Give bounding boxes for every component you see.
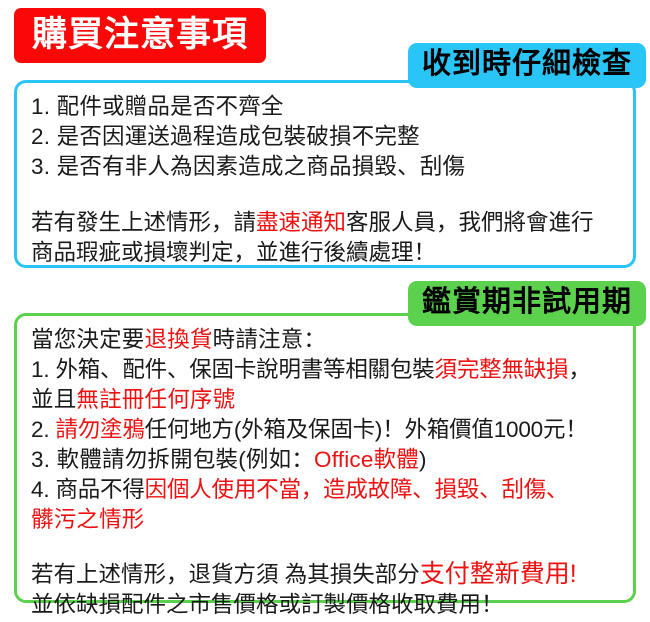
return-intro-line: 當您決定要退換貨時請注意： [31,325,619,355]
purchase-note-line-1-suffix: 客服人員，我們將會進行 [346,210,594,235]
return-item-3: 3. 軟體請勿拆開包裝(例如：Office軟體) [31,445,619,475]
return-item-1-text: 外箱、配件、保固卡說明書等相關包裝 [55,357,434,382]
return-item-1-number: 1. [31,357,49,382]
checklist-item-1-number: 1. [31,94,50,119]
purchase-note-line-1-prefix: 若有發生上述情形，請 [31,210,256,235]
return-policy-panel: 當您決定要退換貨時請注意： 1. 外箱、配件、保固卡說明書等相關包裝須完整無缺損… [14,313,636,603]
return-footer-line-1-prefix: 若有上述情形，退貨方須 為其損失部分 [31,562,420,587]
checklist-item-2: 2. 是否因運送過程造成包裝破損不完整 [31,122,619,152]
return-item-1-suffix: ， [568,357,590,382]
return-item-3-highlight: Office軟體 [314,447,419,472]
purchase-notice-title-badge: 購買注意事項 [14,8,266,63]
return-footer-line-1-highlight: 支付整新費用! [420,560,577,588]
return-item-2-number: 2. [31,417,49,442]
inspect-on-arrival-badge: 收到時仔細檢查 [408,43,646,88]
return-intro-prefix: 當您決定要 [31,327,145,352]
return-policy-spacer [31,535,619,559]
return-item-1-continued: 並且無註冊任何序號 [31,385,619,415]
checklist-item-3-text: 是否有非人為因素造成之商品損毀、刮傷 [57,154,466,179]
return-footer-line-1: 若有上述情形，退貨方須 為其損失部分支付整新費用! [31,559,619,590]
return-policy-body: 當您決定要退換貨時請注意： 1. 外箱、配件、保固卡說明書等相關包裝須完整無缺損… [17,316,633,620]
return-footer-line-2: 並依缺損配件之市售價格或訂製價格收取費用！ [31,590,619,620]
return-item-2: 2. 請勿塗鴉任何地方(外箱及保固卡)！外箱價值1000元！ [31,415,619,445]
return-item-4-text: 商品不得 [55,477,144,502]
checklist-item-2-text: 是否因運送過程造成包裝破損不完整 [57,124,420,149]
return-item-3-text: 軟體請勿拆開包裝(例如： [57,447,314,472]
return-item-2-highlight: 請勿塗鴉 [55,417,144,442]
purchase-note-line-1-highlight: 盡速通知 [256,210,346,235]
return-item-3-number: 3. [31,447,50,472]
return-item-4-continued: 髒污之情形 [31,505,619,535]
purchase-notice-spacer [31,182,619,208]
return-item-2-suffix: 任何地方(外箱及保固卡)！外箱價值1000元！ [145,417,588,442]
return-intro-suffix: 時請注意： [213,327,327,352]
purchase-notice-body: 1. 配件或贈品是否不齊全 2. 是否因運送過程造成包裝破損不完整 3. 是否有… [17,83,633,268]
return-item-1-highlight: 須完整無缺損 [435,357,569,382]
return-item-4-cont-highlight: 髒污之情形 [31,507,145,532]
return-item-4-number: 4. [31,477,49,502]
checklist-item-1-text: 配件或贈品是否不齊全 [57,94,284,119]
checklist-item-3: 3. 是否有非人為因素造成之商品損毀、刮傷 [31,152,619,182]
return-item-3-suffix: ) [419,447,427,472]
purchase-note-line-1: 若有發生上述情形，請盡速通知客服人員，我們將會進行 [31,208,619,238]
purchase-note-line-2: 商品瑕疵或損壞判定，並進行後續處理！ [31,238,619,268]
checklist-item-3-number: 3. [31,154,50,179]
return-item-1-cont-prefix: 並且 [31,387,76,412]
return-item-1-cont-highlight: 無註冊任何序號 [76,387,235,412]
trial-period-badge: 鑑賞期非試用期 [408,281,646,326]
return-item-1: 1. 外箱、配件、保固卡說明書等相關包裝須完整無缺損， [31,355,619,385]
checklist-item-2-number: 2. [31,124,50,149]
return-intro-highlight: 退換貨 [145,327,213,352]
return-item-4: 4. 商品不得因個人使用不當，造成故障、損毀、刮傷、 [31,475,619,505]
return-item-4-highlight: 因個人使用不當，造成故障、損毀、刮傷、 [145,477,569,502]
purchase-notice-panel: 1. 配件或贈品是否不齊全 2. 是否因運送過程造成包裝破損不完整 3. 是否有… [14,80,636,268]
checklist-item-1: 1. 配件或贈品是否不齊全 [31,92,619,122]
